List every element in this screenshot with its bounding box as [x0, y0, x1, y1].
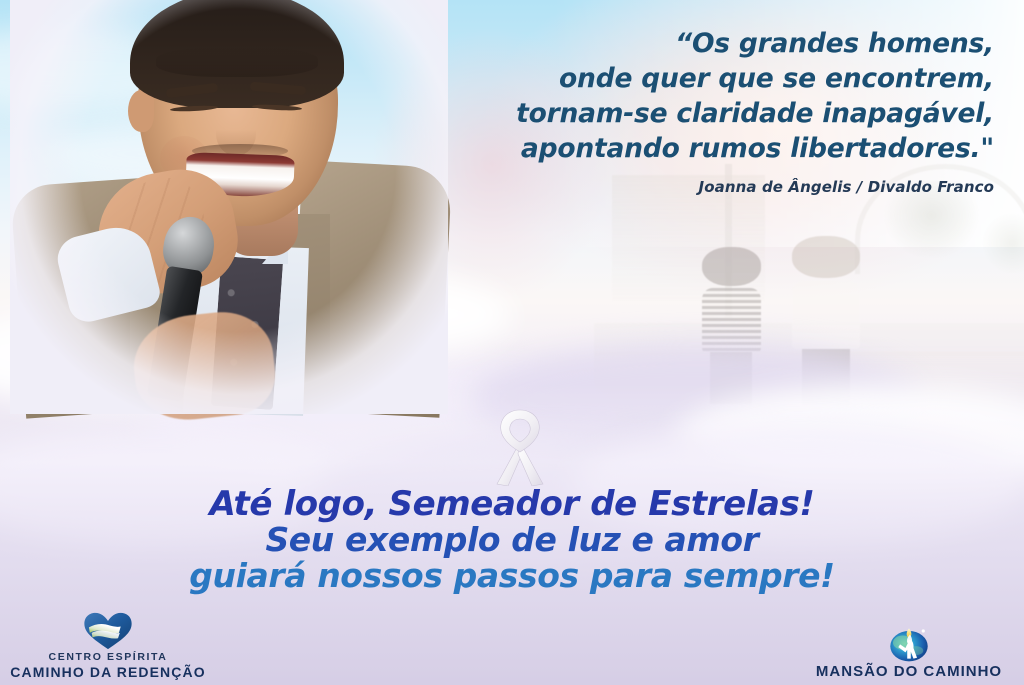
quote-line-3: tornam-se claridade inapagável, [434, 96, 994, 131]
poster-canvas: “Os grandes homens, onde quer que se enc… [0, 0, 1024, 685]
hair [130, 0, 344, 108]
headline-line-1: Até logo, Semeador de Estrelas! [0, 486, 1024, 522]
headline-block: Até logo, Semeador de Estrelas! Seu exem… [0, 486, 1024, 594]
logo-left-line-2: CAMINHO DA REDENÇÃO [8, 664, 208, 681]
headline-line-3: guiará nossos passos para sempre! [0, 558, 1024, 594]
logo-mansao-do-caminho: MANSÃO DO CAMINHO [804, 623, 1014, 681]
quote-block: “Os grandes homens, onde quer que se enc… [434, 26, 994, 196]
heart-hands-icon [8, 611, 208, 651]
logo-left-line-1: CENTRO ESPÍRITA [8, 651, 208, 664]
logo-right-line-1: MANSÃO DO CAMINHO [804, 663, 1014, 681]
logo-centro-espirita: CENTRO ESPÍRITA CAMINHO DA REDENÇÃO [8, 611, 208, 681]
white-ribbon-icon [484, 408, 556, 486]
quote-line-2: onde quer que se encontrem, [434, 61, 994, 96]
globe-figure-flame-icon [804, 623, 1014, 663]
quote-line-1: “Os grandes homens, [434, 26, 994, 61]
headline-line-2: Seu exemplo de luz e amor [0, 522, 1024, 558]
quote-attribution: Joanna de Ângelis / Divaldo Franco [434, 178, 994, 196]
quote-line-4: apontando rumos libertadores." [434, 131, 994, 166]
portrait-divaldo-franco [10, 0, 448, 414]
